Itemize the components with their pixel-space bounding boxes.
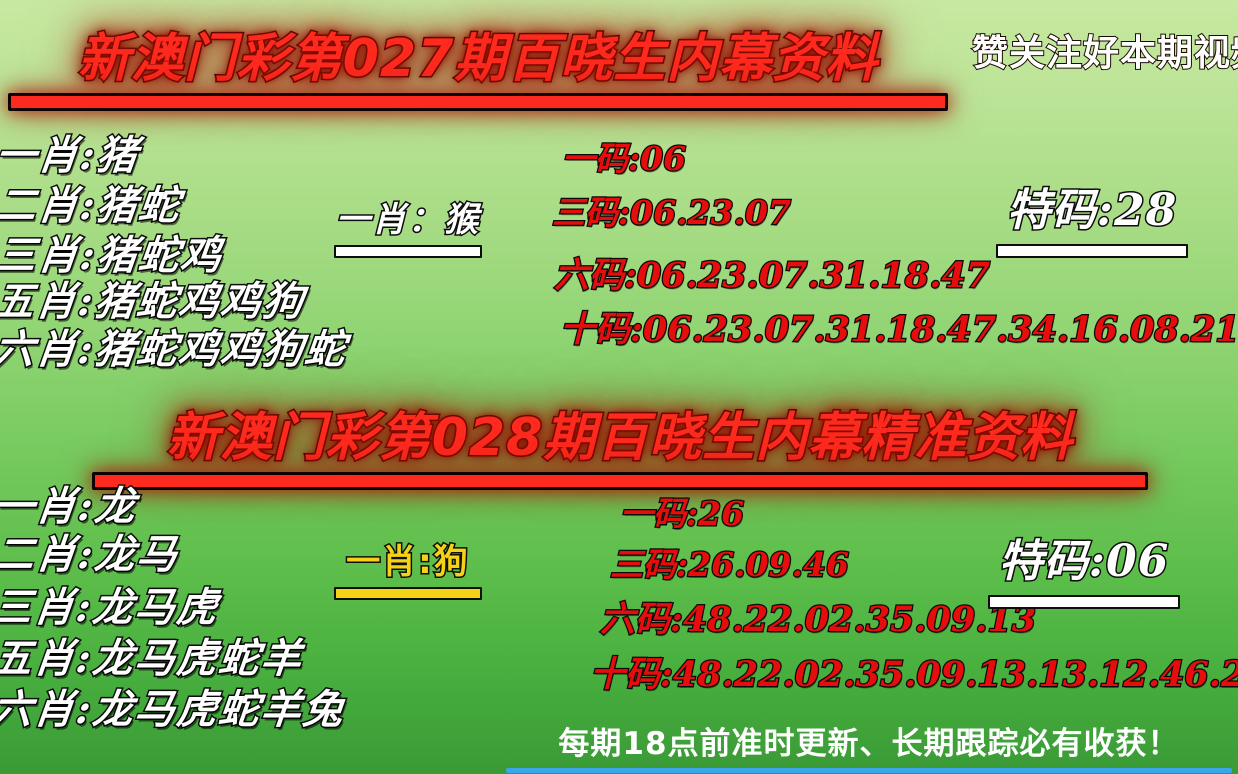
promo-banner: 赞关注好本期视频 [972, 36, 1238, 72]
zodiac-line-1-1: 一肖:猪 [0, 136, 141, 176]
highlight-badge-1-underline [334, 245, 482, 258]
code-row-2-2: 三码:26.09.46 [610, 548, 849, 581]
zodiac-line-2-1: 一肖:龙 [0, 487, 139, 527]
zodiac-line-2-3: 三肖:龙马虎 [0, 588, 221, 628]
zodiac-line-2-5: 六肖:龙马虎蛇羊兔 [0, 690, 347, 730]
zodiac-line-2-4: 五肖:龙马虎蛇羊 [0, 639, 305, 679]
zodiac-line-1-2: 二肖:猪蛇 [0, 186, 183, 226]
special-code-2-underline [988, 595, 1180, 609]
code-row-2-4: 十码:48.22.02.35.09.13.13.12.46.26.03 [590, 657, 1238, 692]
code-row-1-1: 一码:06 [562, 142, 686, 175]
special-code-2-text: 特码:06 [988, 525, 1180, 589]
code-row-1-3: 六码:06.23.07.31.18.47 [554, 258, 990, 293]
footer-banner: 每期18点前准时更新、长期跟踪必有收获！ [506, 718, 1232, 773]
zodiac-line-2-2: 二肖:龙马 [0, 535, 181, 575]
promo-text: 赞关注好本期视频 [972, 33, 1238, 74]
zodiac-line-1-4: 五肖:猪蛇鸡鸡狗 [0, 282, 307, 322]
footer-banner-text: 每期18点前准时更新、长期跟踪必有收获！ [506, 718, 1232, 763]
highlight-badge-1-text: 一肖：猴 [334, 192, 482, 241]
highlight-badge-2-underline [334, 587, 482, 600]
special-code-1-text: 特码:28 [996, 174, 1188, 238]
section-title-1-underline [8, 93, 948, 111]
code-row-1-2: 三码:06.23.07 [552, 196, 791, 229]
zodiac-line-1-5: 六肖:猪蛇鸡鸡狗蛇 [0, 330, 349, 370]
code-row-2-3: 六码:48.22.02.35.09.13 [600, 602, 1036, 637]
section-title-2-underline [92, 472, 1148, 490]
special-code-2: 特码:06 [988, 525, 1180, 609]
highlight-badge-2-text: 一肖:狗 [334, 534, 482, 583]
special-code-1-underline [996, 244, 1188, 258]
section-title-1-text: 新澳门彩第027期百晓生内幕资料 [8, 16, 948, 91]
poster-canvas: 新澳门彩第027期百晓生内幕资料 赞关注好本期视频 一肖:猪 二肖:猪蛇 三肖:… [0, 0, 1238, 774]
section-title-2: 新澳门彩第028期百晓生内幕精准资料 [92, 395, 1148, 490]
code-row-1-4: 十码:06.23.07.31.18.47.34.16.08.21 [560, 312, 1238, 347]
section-title-1: 新澳门彩第027期百晓生内幕资料 [8, 16, 948, 111]
special-code-1: 特码:28 [996, 174, 1188, 258]
highlight-badge-1: 一肖：猴 [334, 192, 482, 258]
section-title-2-text: 新澳门彩第028期百晓生内幕精准资料 [92, 395, 1148, 470]
highlight-badge-2: 一肖:狗 [334, 534, 482, 600]
zodiac-line-1-3: 三肖:猪蛇鸡 [0, 236, 225, 276]
code-row-2-1: 一码:26 [620, 497, 744, 530]
footer-banner-underline [506, 768, 1232, 773]
